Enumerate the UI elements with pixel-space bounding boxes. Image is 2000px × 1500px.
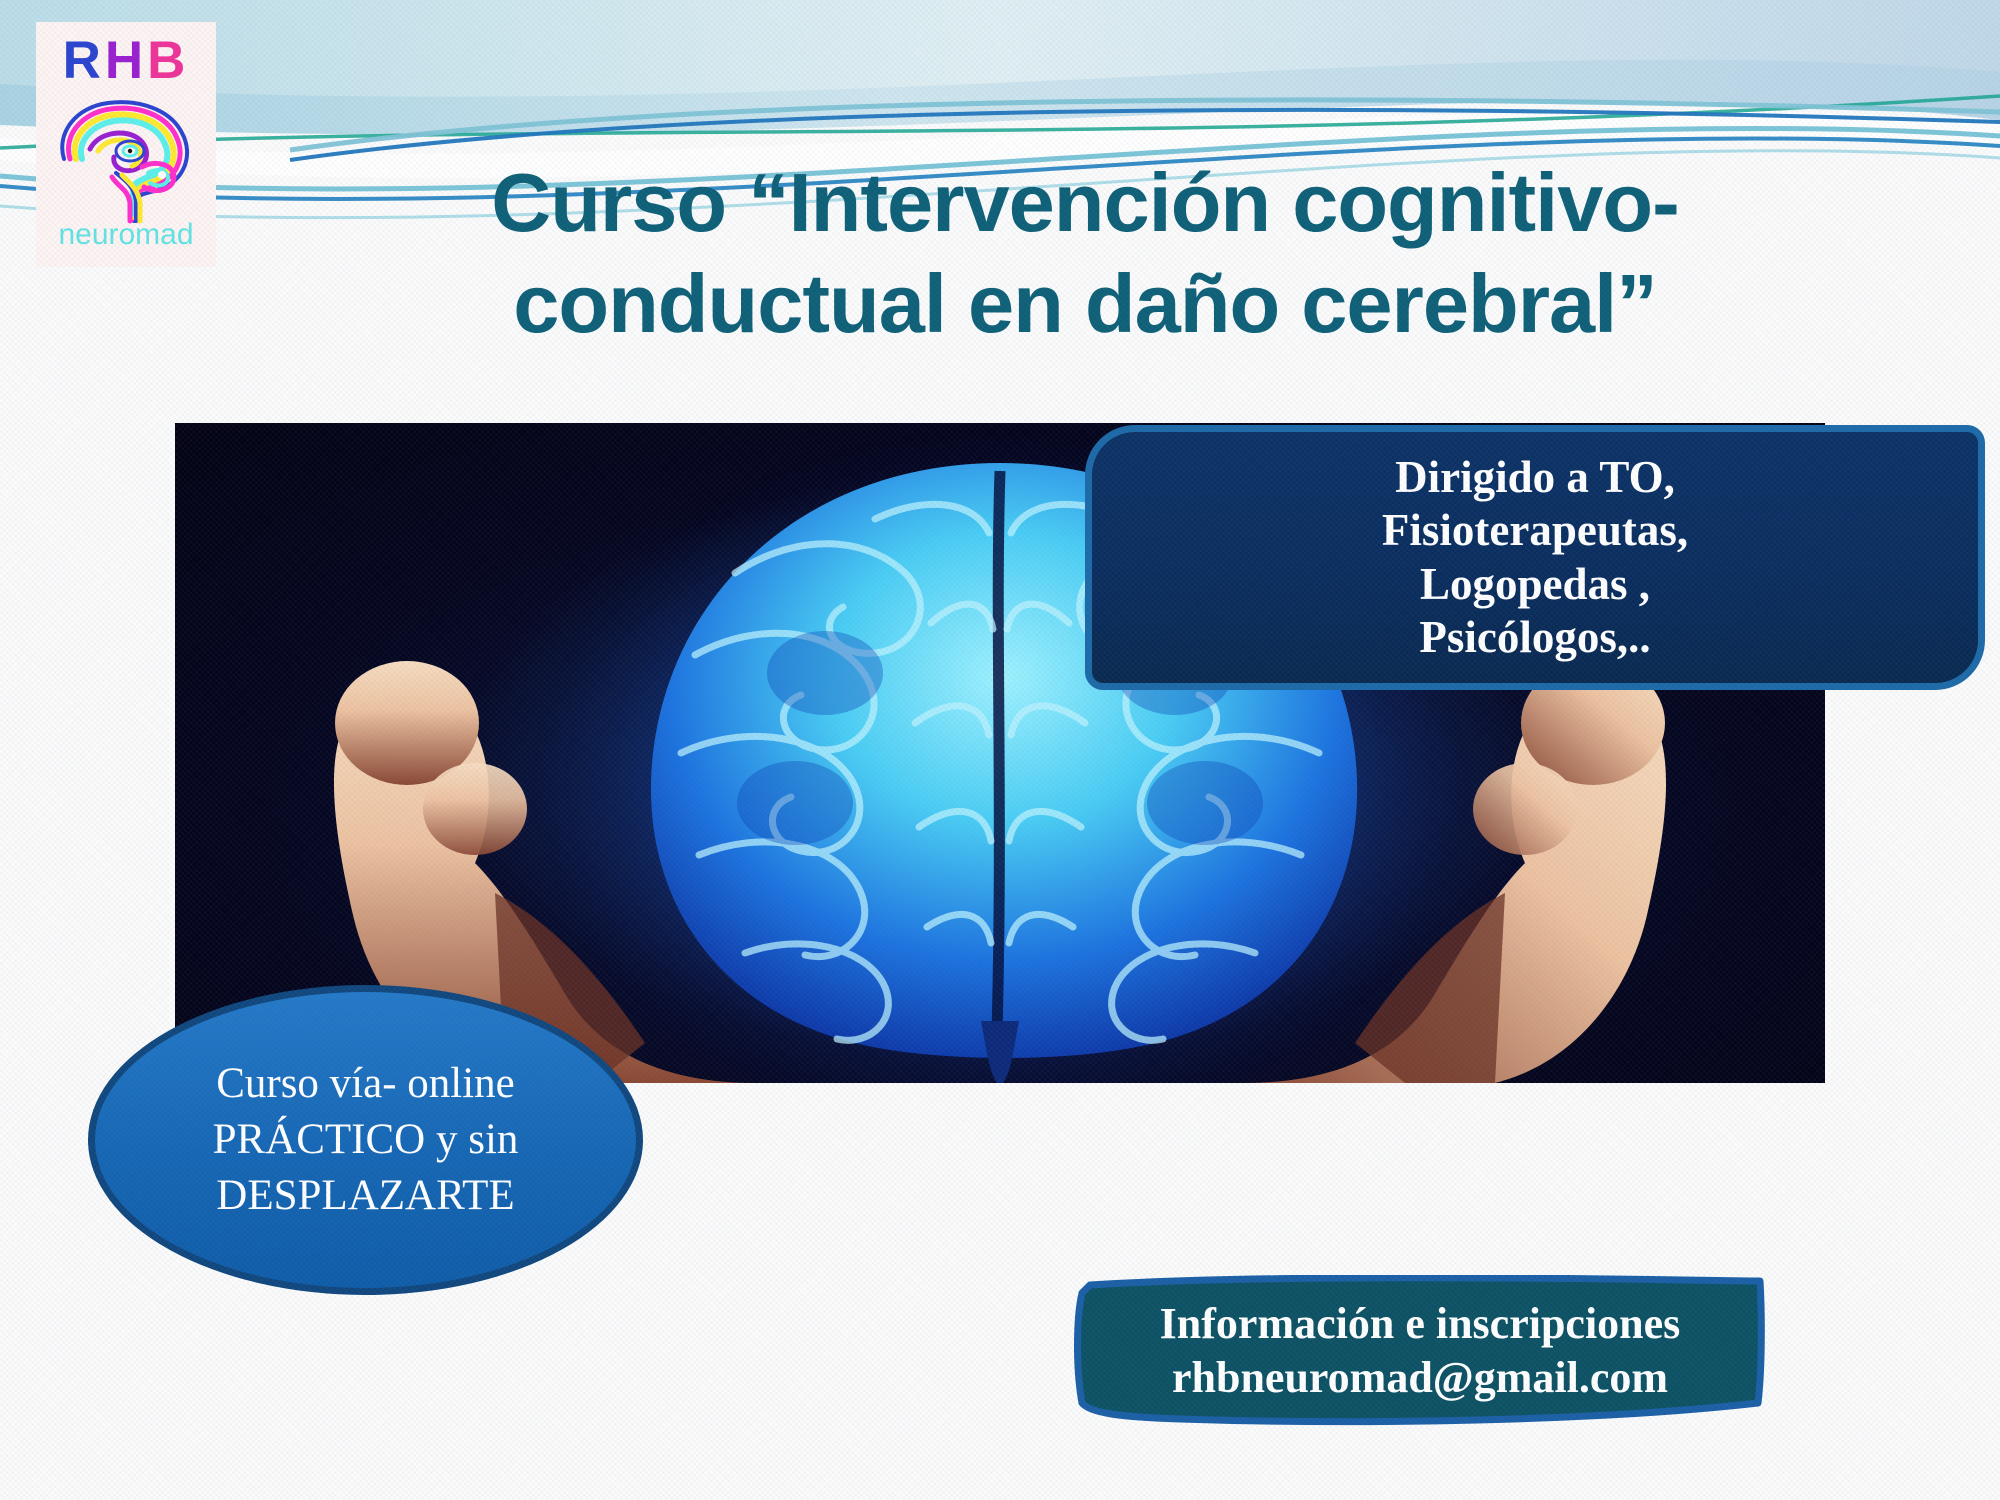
audience-line-1: Dirigido a TO, [1382,451,1688,504]
audience-line-3: Logopedas , [1382,558,1688,611]
rhb-neuromad-logo: RHB [36,22,216,267]
callout-modality-text: Curso vía- online PRÁCTICO y sin DESPLAZ… [213,1056,519,1224]
slide-canvas: RHB [0,0,2000,1500]
modality-line-2: PRÁCTICO y sin [213,1112,519,1168]
title-line-1: Curso “Intervención cognitivo- [491,156,1678,249]
logo-letter-r: R [63,31,105,90]
contact-line-1: Información e inscripciones [1160,1297,1681,1351]
logo-letter-h: H [105,31,147,90]
brain-logo-icon [46,89,206,224]
callout-contact[interactable]: Información e inscripciones rhbneuromad@… [1060,1275,1780,1440]
logo-letters: RHB [63,34,190,87]
logo-wordmark: neuromad [58,220,193,250]
page-title: Curso “Intervención cognitivo- conductua… [215,152,1955,355]
logo-letter-b: B [147,31,189,90]
modality-line-1: Curso vía- online [213,1056,519,1112]
contact-email[interactable]: rhbneuromad@gmail.com [1172,1351,1668,1405]
title-line-2: conductual en daño cerebral” [215,253,1955,354]
audience-line-4: Psicólogos,.. [1382,611,1688,664]
callout-contact-text: Información e inscripciones rhbneuromad@… [1060,1275,1780,1440]
audience-line-2: Fisioterapeutas, [1382,504,1688,557]
callout-audience: Dirigido a TO, Fisioterapeutas, Logopeda… [1085,425,1985,690]
callout-modality: Curso vía- online PRÁCTICO y sin DESPLAZ… [88,985,643,1295]
callout-audience-text: Dirigido a TO, Fisioterapeutas, Logopeda… [1364,451,1706,663]
modality-line-3: DESPLAZARTE [213,1168,519,1224]
